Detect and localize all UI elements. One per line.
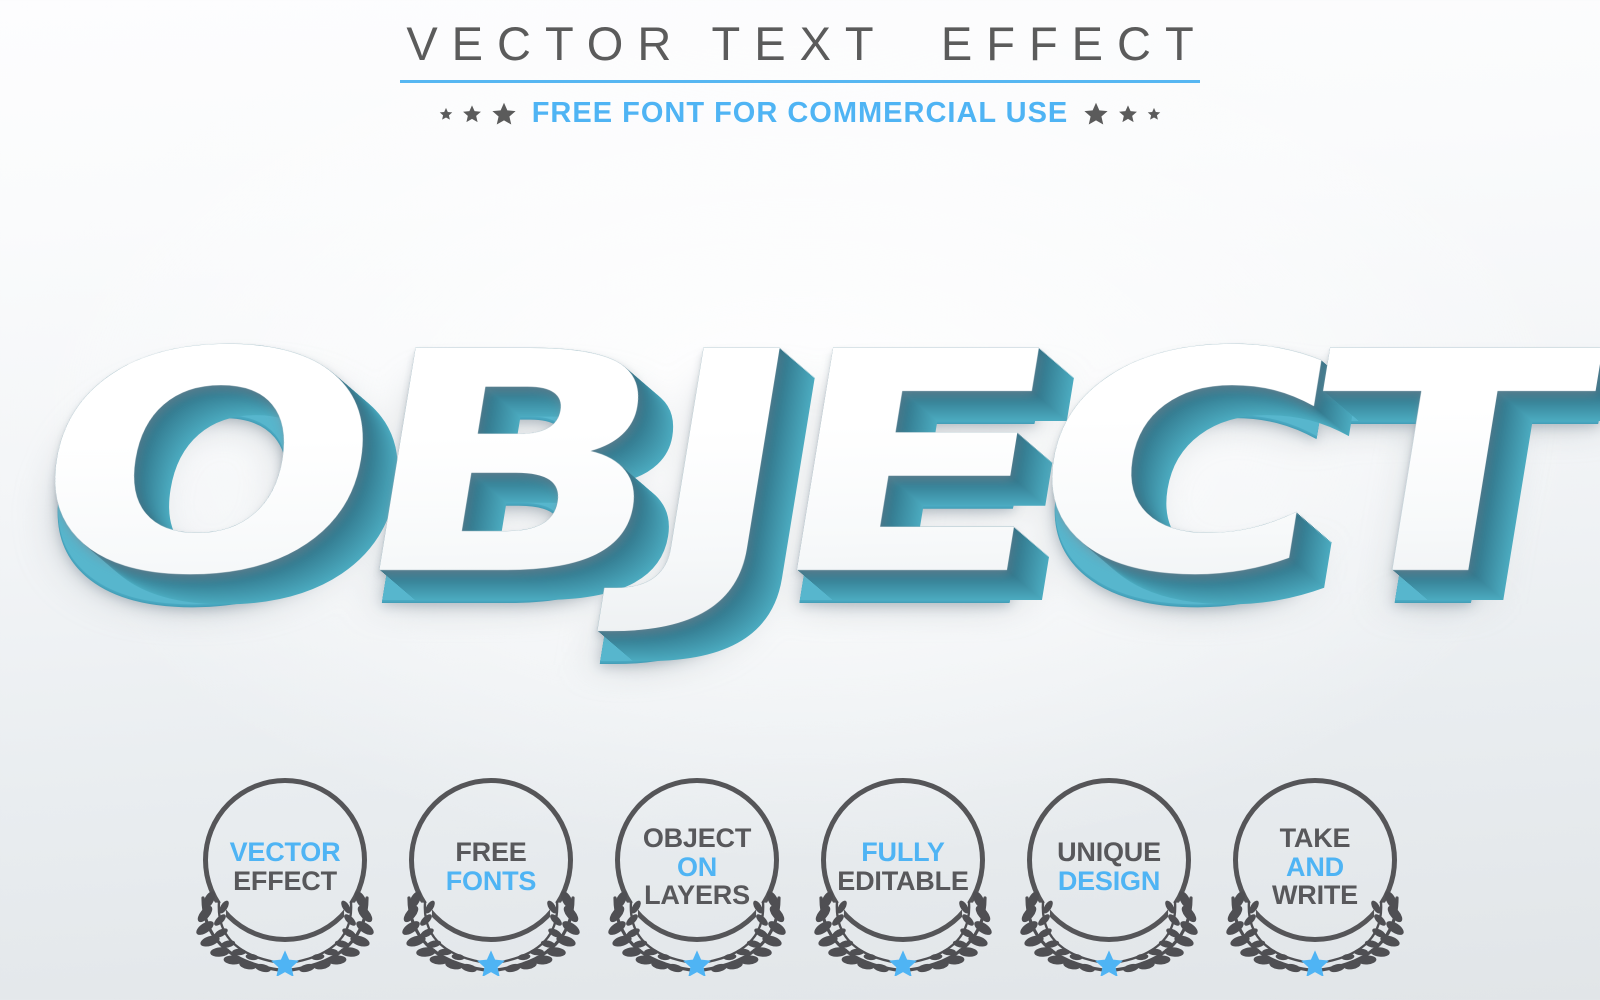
title-underline-rule bbox=[400, 80, 1200, 83]
subtitle-text: FREE FONT FOR COMMERCIAL USE bbox=[532, 97, 1069, 130]
badge-label-line: WRITE bbox=[1272, 881, 1358, 910]
badge-label-line: LAYERS bbox=[643, 881, 751, 910]
badge-label: OBJECTONLAYERS bbox=[635, 824, 759, 911]
badge-label: TAKEANDWRITE bbox=[1264, 824, 1366, 911]
badge-label-line: FONTS bbox=[446, 867, 537, 896]
header-block: VECTOR TEXT EFFECT FREE FONT FOR COMMERC… bbox=[0, 0, 1600, 130]
star-icon bbox=[1083, 101, 1109, 127]
badge-label: FREEFONTS bbox=[438, 838, 545, 896]
star-icon bbox=[439, 107, 453, 121]
badge-label: FULLYEDITABLE bbox=[829, 838, 976, 896]
hero-stage: OBJECT OBJECT OBJECT OBJECT bbox=[0, 250, 1600, 680]
star-icon bbox=[1147, 107, 1161, 121]
hero-text-effect: OBJECT OBJECT OBJECT OBJECT bbox=[0, 250, 1600, 680]
badge-label: VECTOREFFECT bbox=[222, 838, 349, 896]
badge-row: VECTOREFFECTFREEFONTSOBJECTONLAYERSFULLY… bbox=[0, 772, 1600, 972]
badge-label-line: DESIGN bbox=[1057, 867, 1161, 896]
badge-label-line: FULLY bbox=[837, 838, 968, 867]
badge-label-line: OBJECT bbox=[643, 824, 751, 853]
badge-label-line: UNIQUE bbox=[1057, 838, 1161, 867]
badge-label-line: EFFECT bbox=[230, 867, 341, 896]
star-icon bbox=[491, 101, 517, 127]
star-icon bbox=[1118, 104, 1138, 124]
badge-take-and-write[interactable]: TAKEANDWRITE bbox=[1225, 772, 1405, 972]
badge-free-fonts[interactable]: FREEFONTS bbox=[401, 772, 581, 972]
badge-label-line: AND bbox=[1272, 853, 1358, 882]
badge-object-on-layers[interactable]: OBJECTONLAYERS bbox=[607, 772, 787, 972]
badge-fully-editable[interactable]: FULLYEDITABLE bbox=[813, 772, 993, 972]
star-icon bbox=[462, 104, 482, 124]
badge-vector-effect[interactable]: VECTOREFFECT bbox=[195, 772, 375, 972]
badge-label-line: VECTOR bbox=[230, 838, 341, 867]
star-group-right bbox=[1083, 101, 1161, 127]
badge-label-line: FREE bbox=[446, 838, 537, 867]
star-group-left bbox=[439, 101, 517, 127]
badge-label-line: ON bbox=[643, 853, 751, 882]
badge-unique-design[interactable]: UNIQUEDESIGN bbox=[1019, 772, 1199, 972]
subtitle-row: FREE FONT FOR COMMERCIAL USE bbox=[0, 97, 1600, 130]
hero-word-front-face: OBJECT bbox=[0, 250, 1600, 680]
badge-label-line: EDITABLE bbox=[837, 867, 968, 896]
badge-label-line: TAKE bbox=[1272, 824, 1358, 853]
badge-label: UNIQUEDESIGN bbox=[1049, 838, 1169, 896]
page-title: VECTOR TEXT EFFECT bbox=[0, 20, 1600, 67]
